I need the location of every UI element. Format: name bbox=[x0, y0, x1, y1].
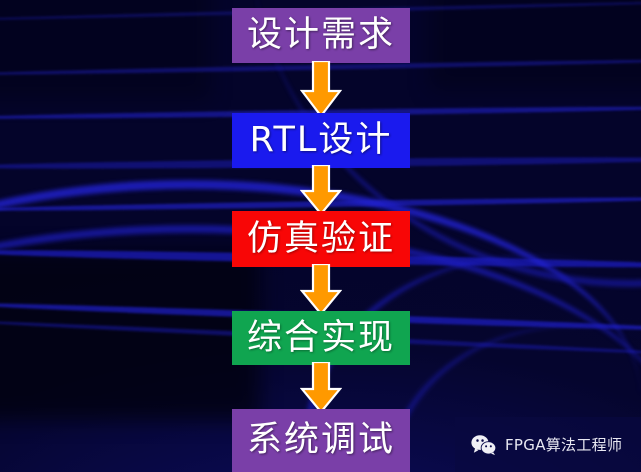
flow-diagram: 设计需求 RTL设计 仿真验证 综合实现 bbox=[0, 0, 641, 472]
down-arrow-icon bbox=[300, 61, 342, 117]
flow-node-rtl-design[interactable]: RTL设计 bbox=[232, 113, 410, 168]
watermark: FPGA算法工程师 bbox=[455, 417, 641, 472]
flow-node-label: 综合实现 bbox=[247, 321, 395, 356]
flow-node-label: 仿真验证 bbox=[247, 222, 395, 257]
flow-node-synthesis[interactable]: 综合实现 bbox=[232, 311, 410, 365]
flow-node-simulation[interactable]: 仿真验证 bbox=[232, 211, 410, 267]
flow-node-debug[interactable]: 系统调试 bbox=[232, 409, 410, 472]
flow-node-requirements[interactable]: 设计需求 bbox=[232, 8, 410, 63]
watermark-text: FPGA算法工程师 bbox=[505, 434, 622, 455]
flow-arrow-1 bbox=[300, 61, 342, 117]
flow-node-label: 设计需求 bbox=[247, 18, 395, 53]
flow-arrow-3 bbox=[300, 264, 342, 315]
flow-node-label: 系统调试 bbox=[247, 423, 395, 458]
down-arrow-icon bbox=[300, 362, 342, 413]
flow-arrow-2 bbox=[300, 165, 342, 215]
wechat-icon bbox=[471, 434, 497, 456]
flow-arrow-4 bbox=[300, 362, 342, 413]
down-arrow-icon bbox=[300, 165, 342, 215]
slide-canvas: 设计需求 RTL设计 仿真验证 综合实现 bbox=[0, 0, 641, 472]
down-arrow-icon bbox=[300, 264, 342, 315]
flow-node-label: RTL设计 bbox=[250, 123, 393, 158]
